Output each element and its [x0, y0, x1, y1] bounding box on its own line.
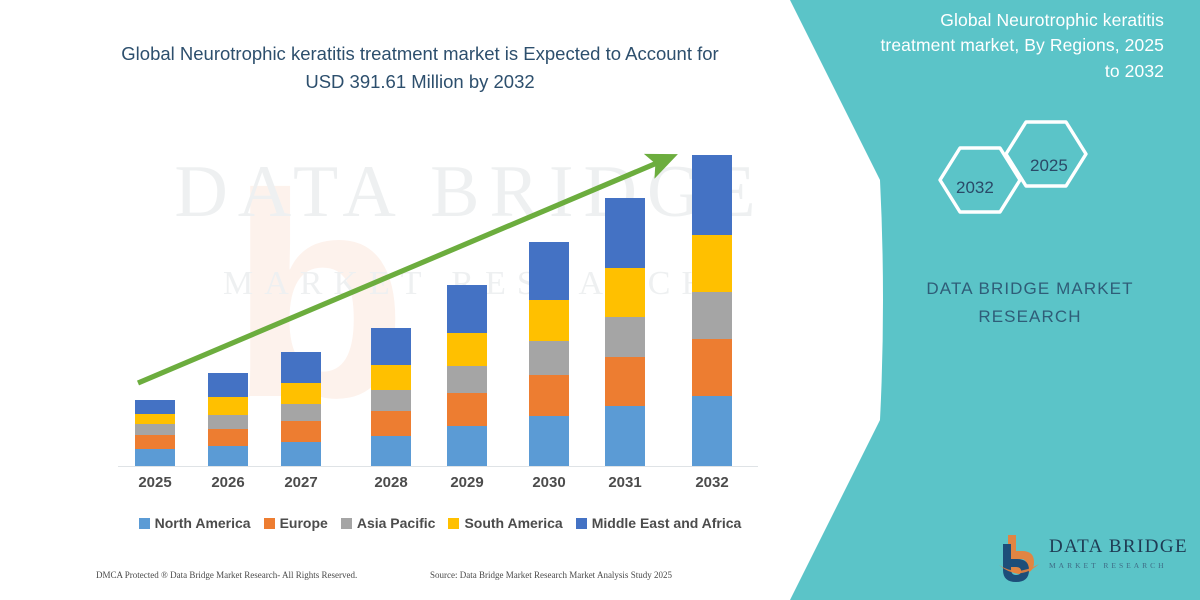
- x-axis-label-2025: 2025: [120, 474, 190, 491]
- bar-segment-south-america-2027[interactable]: [281, 383, 321, 404]
- x-axis-label-2030: 2030: [514, 474, 584, 491]
- bar-segment-asia-pacific-2027[interactable]: [281, 404, 321, 421]
- bar-segment-south-america-2031[interactable]: [605, 268, 645, 317]
- x-axis-label-2032: 2032: [677, 474, 747, 491]
- bar-segment-europe-2025[interactable]: [135, 435, 175, 449]
- footer-source: Source: Data Bridge Market Research Mark…: [430, 570, 672, 580]
- bar-segment-middle-east-and-africa-2031[interactable]: [605, 198, 645, 268]
- bar-segment-middle-east-and-africa-2025[interactable]: [135, 400, 175, 414]
- legend-swatch-asia-pacific: [341, 518, 352, 529]
- legend-item-south-america[interactable]: South America: [448, 515, 562, 531]
- bar-segment-europe-2026[interactable]: [208, 429, 248, 446]
- bar-segment-asia-pacific-2029[interactable]: [447, 366, 487, 393]
- legend-label-south-america: South America: [464, 515, 562, 531]
- legend-item-middle-east-and-africa[interactable]: Middle East and Africa: [576, 515, 742, 531]
- bar-segment-europe-2032[interactable]: [692, 339, 732, 396]
- bar-segment-middle-east-and-africa-2032[interactable]: [692, 155, 732, 235]
- bar-segment-north-america-2028[interactable]: [371, 436, 411, 466]
- bar-2025[interactable]: [135, 400, 175, 466]
- footer-copyright: DMCA Protected ® Data Bridge Market Rese…: [96, 570, 357, 580]
- bar-2026[interactable]: [208, 373, 248, 466]
- legend-label-europe: Europe: [280, 515, 328, 531]
- panel-brand-line-2: RESEARCH: [880, 303, 1180, 331]
- legend-swatch-middle-east-and-africa: [576, 518, 587, 529]
- x-axis-label-2027: 2027: [266, 474, 336, 491]
- legend-label-asia-pacific: Asia Pacific: [357, 515, 436, 531]
- legend-item-europe[interactable]: Europe: [264, 515, 328, 531]
- bar-segment-asia-pacific-2032[interactable]: [692, 292, 732, 339]
- chart-plot-area: 20252026202720282029203020312032: [0, 0, 790, 600]
- legend-label-middle-east-and-africa: Middle East and Africa: [592, 515, 742, 531]
- bar-segment-asia-pacific-2030[interactable]: [529, 341, 569, 375]
- bar-segment-europe-2031[interactable]: [605, 357, 645, 406]
- bar-segment-south-america-2028[interactable]: [371, 365, 411, 390]
- hexagon-label-start: 2025: [1030, 156, 1068, 176]
- bar-segment-asia-pacific-2026[interactable]: [208, 415, 248, 429]
- bar-2031[interactable]: [605, 198, 645, 466]
- hexagon-shapes: [928, 118, 1108, 223]
- bar-segment-south-america-2025[interactable]: [135, 414, 175, 424]
- legend-item-north-america[interactable]: North America: [139, 515, 251, 531]
- bar-segment-middle-east-and-africa-2026[interactable]: [208, 373, 248, 397]
- panel-brand: DATA BRIDGE MARKET RESEARCH: [880, 275, 1180, 331]
- bar-segment-north-america-2030[interactable]: [529, 416, 569, 466]
- company-logo: DATA BRIDGE MARKET RESEARCH: [995, 530, 1195, 588]
- bar-segment-middle-east-and-africa-2030[interactable]: [529, 242, 569, 300]
- logo-name: DATA BRIDGE: [1049, 536, 1189, 558]
- bar-segment-south-america-2026[interactable]: [208, 397, 248, 415]
- bar-segment-asia-pacific-2025[interactable]: [135, 424, 175, 435]
- bar-segment-north-america-2026[interactable]: [208, 446, 248, 466]
- hexagon-label-end: 2032: [956, 178, 994, 198]
- x-axis-label-2031: 2031: [590, 474, 660, 491]
- bar-segment-europe-2027[interactable]: [281, 421, 321, 442]
- logo-text: DATA BRIDGE MARKET RESEARCH: [1049, 536, 1189, 570]
- bar-segment-south-america-2032[interactable]: [692, 235, 732, 292]
- bar-segment-europe-2028[interactable]: [371, 411, 411, 436]
- bar-segment-north-america-2029[interactable]: [447, 426, 487, 466]
- bar-segment-south-america-2030[interactable]: [529, 300, 569, 341]
- bar-2028[interactable]: [371, 328, 411, 466]
- bar-segment-middle-east-and-africa-2028[interactable]: [371, 328, 411, 365]
- legend-swatch-europe: [264, 518, 275, 529]
- bar-segment-europe-2030[interactable]: [529, 375, 569, 416]
- bar-segment-asia-pacific-2028[interactable]: [371, 390, 411, 411]
- bar-segment-middle-east-and-africa-2027[interactable]: [281, 352, 321, 383]
- bar-segment-south-america-2029[interactable]: [447, 333, 487, 366]
- market-infographic: b DATA BRIDGE MARKET RESEARCH Global Neu…: [0, 0, 1200, 600]
- hexagon-years: 2025 2032: [928, 118, 1108, 223]
- logo-tagline: MARKET RESEARCH: [1049, 561, 1189, 570]
- legend-swatch-north-america: [139, 518, 150, 529]
- logo-mark-icon: [995, 532, 1045, 584]
- bar-2030[interactable]: [529, 242, 569, 466]
- bar-segment-north-america-2031[interactable]: [605, 406, 645, 466]
- legend-swatch-south-america: [448, 518, 459, 529]
- bar-segment-north-america-2025[interactable]: [135, 449, 175, 466]
- x-axis-label-2028: 2028: [356, 474, 426, 491]
- bar-segment-north-america-2027[interactable]: [281, 442, 321, 466]
- x-axis-labels: 20252026202720282029203020312032: [0, 474, 790, 502]
- x-axis-label-2029: 2029: [432, 474, 502, 491]
- x-axis-label-2026: 2026: [193, 474, 263, 491]
- bar-2032[interactable]: [692, 155, 732, 466]
- bar-2029[interactable]: [447, 285, 487, 466]
- panel-title: Global Neurotrophic keratitis treatment …: [864, 8, 1164, 84]
- bar-segment-middle-east-and-africa-2029[interactable]: [447, 285, 487, 333]
- legend-label-north-america: North America: [155, 515, 251, 531]
- bar-segment-north-america-2032[interactable]: [692, 396, 732, 466]
- chart-legend: North AmericaEuropeAsia PacificSouth Ame…: [110, 512, 770, 534]
- footer: DMCA Protected ® Data Bridge Market Rese…: [0, 568, 790, 590]
- x-axis-line: [118, 466, 758, 467]
- legend-item-asia-pacific[interactable]: Asia Pacific: [341, 515, 436, 531]
- panel-brand-line-1: DATA BRIDGE MARKET: [880, 275, 1180, 303]
- bar-segment-europe-2029[interactable]: [447, 393, 487, 426]
- bar-2027[interactable]: [281, 352, 321, 466]
- bar-segment-asia-pacific-2031[interactable]: [605, 317, 645, 357]
